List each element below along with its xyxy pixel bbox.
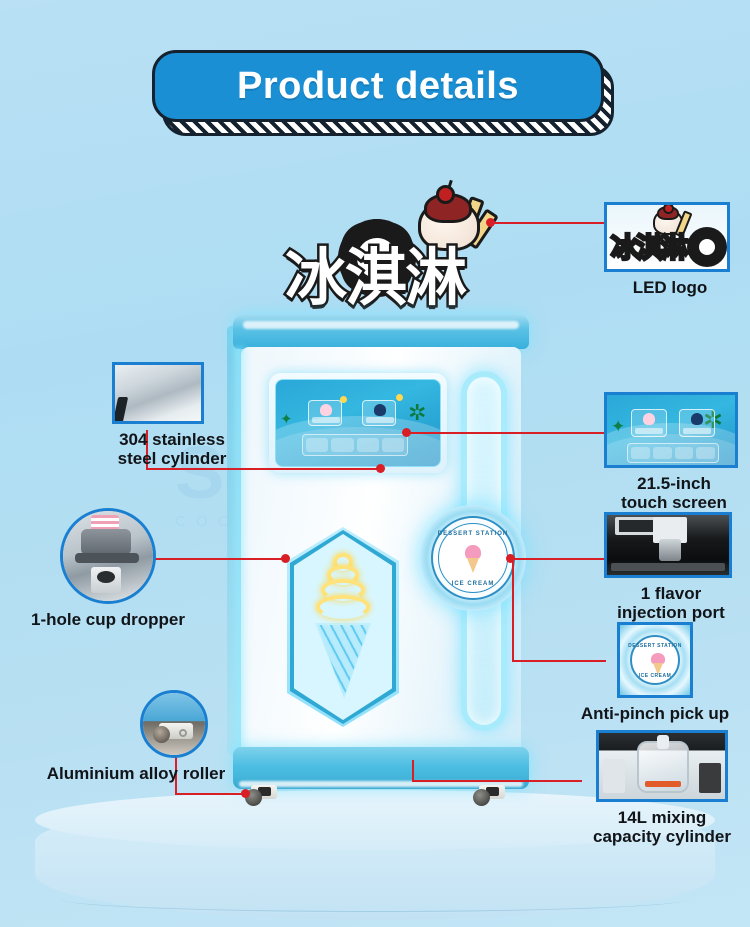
callout-touch-screen: ✦ ✲ 21.5-inch touch screen	[604, 392, 744, 512]
pickup-port-bottom-text: ICE CREAM	[420, 581, 526, 587]
anti-pinch-badge-bottom-text: ICE CREAM	[620, 673, 690, 679]
product-card-2[interactable]	[362, 400, 396, 426]
callout-cup-dropper: 1-hole cup dropper	[20, 508, 196, 629]
coin-icon-2	[396, 394, 403, 401]
option-button-row[interactable]	[302, 434, 408, 456]
cup-dropper-thumbnail[interactable]	[60, 508, 156, 604]
led-logo-topper: 冰淇淋	[230, 175, 530, 320]
screen-ui[interactable]: ✦ ✲	[275, 379, 441, 467]
banner-face: Product details	[152, 50, 604, 122]
product-card-1[interactable]	[308, 400, 342, 426]
page-title: Product details	[237, 65, 519, 108]
led-logo-thumbnail[interactable]: 冰淇淋	[604, 202, 730, 272]
thumb-led-text: 冰淇淋	[611, 231, 691, 265]
callout-mixing-cylinder: 14L mixing capacity cylinder	[578, 730, 746, 846]
option-button-4[interactable]	[382, 438, 404, 452]
product-card-1-icon	[320, 404, 332, 416]
callout-label-alloy-roller: Aluminium alloy roller	[32, 764, 240, 783]
connector-dot-cup-dropper	[281, 554, 290, 563]
option-button-2[interactable]	[331, 438, 353, 452]
callout-label-mixing-line1: 14L mixing	[578, 808, 746, 827]
pickup-cone-swirl	[465, 545, 481, 560]
connector-stainless-horizontal	[146, 468, 381, 470]
connector-touch-screen	[406, 432, 605, 434]
neon-cone-swirl-icon	[315, 553, 371, 629]
callout-label-flavor-port-line1: 1 flavor	[604, 584, 738, 603]
pickup-port-cone-icon	[464, 545, 482, 573]
product-card-1-label	[312, 417, 340, 423]
caster-wheel-left	[245, 785, 277, 807]
anti-pinch-badge-top-text: DESSERT STATION	[620, 643, 690, 649]
led-topper-text: 冰淇淋	[230, 227, 520, 317]
pickup-port-top-text: DESSERT STATION	[420, 531, 526, 537]
thumb-cherry-icon	[663, 203, 674, 214]
callout-label-flavor-port-line2: injection port	[604, 603, 738, 622]
thumb-option-row[interactable]	[627, 443, 719, 463]
callout-anti-pinch: DESSERT STATION ICE CREAM Anti-pinch pic…	[560, 622, 750, 723]
callout-label-touch-screen-line1: 21.5-inch	[604, 474, 744, 493]
callout-stainless-cylinder: 304 stainless steel cylinder	[92, 362, 252, 468]
connector-dot-touch-screen	[402, 428, 411, 437]
callout-label-stainless-line2: steel cylinder	[92, 449, 252, 468]
caster-wheel-right	[473, 785, 505, 807]
cabinet-cap-gloss	[243, 321, 519, 329]
thumb-product-card-2[interactable]	[679, 409, 715, 437]
thumb-product-card-1[interactable]	[631, 409, 667, 437]
option-button-3[interactable]	[357, 438, 379, 452]
anti-pinch-thumbnail[interactable]: DESSERT STATION ICE CREAM	[617, 622, 693, 698]
callout-label-stainless-line1: 304 stainless	[92, 430, 252, 449]
callout-alloy-roller: Aluminium alloy roller	[32, 690, 240, 783]
injection-nozzle-icon	[659, 539, 681, 561]
product-card-2-label	[366, 417, 394, 423]
callout-label-touch-screen-line2: touch screen	[604, 493, 744, 512]
connector-flavor-port	[510, 558, 605, 560]
pickup-cone-waffle	[467, 558, 479, 573]
callout-label-anti-pinch: Anti-pinch pick up	[560, 704, 750, 723]
swirl-ring-4	[316, 595, 370, 619]
alloy-roller-thumbnail[interactable]	[140, 690, 208, 758]
option-button-1[interactable]	[306, 438, 328, 452]
connector-led-logo	[490, 222, 605, 224]
stainless-cylinder-thumbnail[interactable]	[112, 362, 204, 424]
touch-screen-thumbnail[interactable]: ✦ ✲	[604, 392, 738, 468]
callout-label-cup-dropper: 1-hole cup dropper	[20, 610, 196, 629]
mixing-cylinder-thumbnail[interactable]	[596, 730, 728, 802]
connector-dot-led-logo	[486, 218, 495, 227]
connector-roller-horizontal	[175, 793, 245, 795]
vending-machine: 冰淇淋 ✦ ✲	[225, 175, 535, 810]
starfish-icon: ✦	[280, 410, 293, 428]
neon-ice-cream-panel	[287, 527, 399, 727]
callout-label-led-logo: LED logo	[604, 278, 736, 297]
connector-mixing-vertical	[412, 760, 414, 782]
display-pedestal-edge	[60, 886, 690, 912]
page-title-banner: Product details	[152, 50, 604, 122]
flavor-injection-thumbnail[interactable]	[604, 512, 732, 578]
product-card-2-icon	[374, 404, 386, 416]
connector-dot-roller	[241, 789, 250, 798]
connector-anti-pinch-vertical	[512, 562, 514, 662]
thumb-starfish-icon: ✦	[611, 417, 625, 437]
callout-led-logo: 冰淇淋 LED logo	[604, 202, 736, 297]
callout-flavor-port: 1 flavor injection port	[604, 512, 738, 622]
connector-dot-stainless	[376, 464, 385, 473]
machine-touch-screen[interactable]: ✦ ✲	[269, 373, 447, 473]
roller-wheel-icon	[153, 726, 170, 743]
connector-mixing-horizontal	[412, 780, 582, 782]
palm-tree-icon: ✲	[408, 402, 434, 432]
caster-wheel-disc-right	[473, 789, 490, 806]
callout-label-mixing-line2: capacity cylinder	[578, 827, 746, 846]
cherry-icon	[436, 185, 455, 204]
